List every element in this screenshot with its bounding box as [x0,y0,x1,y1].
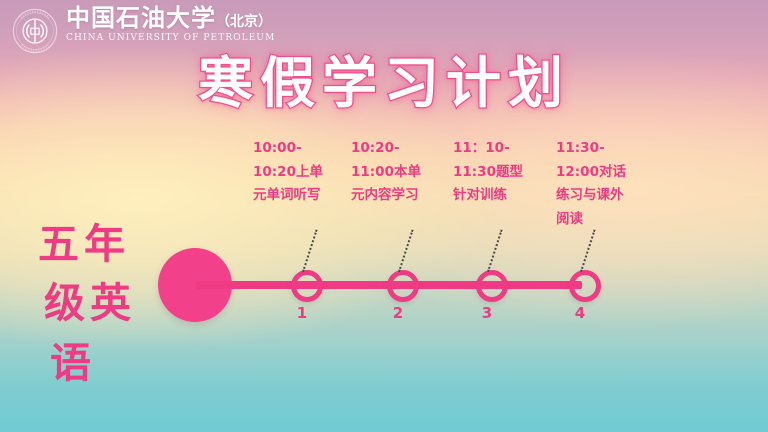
timeline-node-1[interactable] [291,270,323,302]
timeline-node-3[interactable] [476,270,508,302]
timeline-connector-3 [487,230,504,273]
timeline-step-number-3: 3 [467,304,507,322]
timeline-step-number-4: 4 [560,304,600,322]
timeline-connector-4 [580,230,597,273]
timeline-task-label-2: 10:20- 11:00本单 元内容学习 [351,137,451,208]
timeline-task-label-4: 11:30- 12:00对话 练习与课外 阅读 [556,137,656,232]
presentation-slide: 中国石油大学（北京） CHINA UNIVERSITY OF PETROLEUM… [0,0,768,432]
timeline-task-label-1: 10:00- 10:20上单 元单词听写 [253,137,353,208]
timeline-step-number-1: 1 [282,304,322,322]
timeline-step-number-2: 2 [378,304,418,322]
timeline-node-2[interactable] [387,270,419,302]
timeline-node-4[interactable] [569,270,601,302]
timeline: 1 2 3 4 10:00- 10:20上单 元单词听写 10:20- 11:0… [0,0,768,432]
timeline-task-label-3: 11：10- 11:30题型 针对训练 [453,137,553,208]
timeline-connector-2 [398,230,415,273]
timeline-connector-1 [302,230,319,273]
